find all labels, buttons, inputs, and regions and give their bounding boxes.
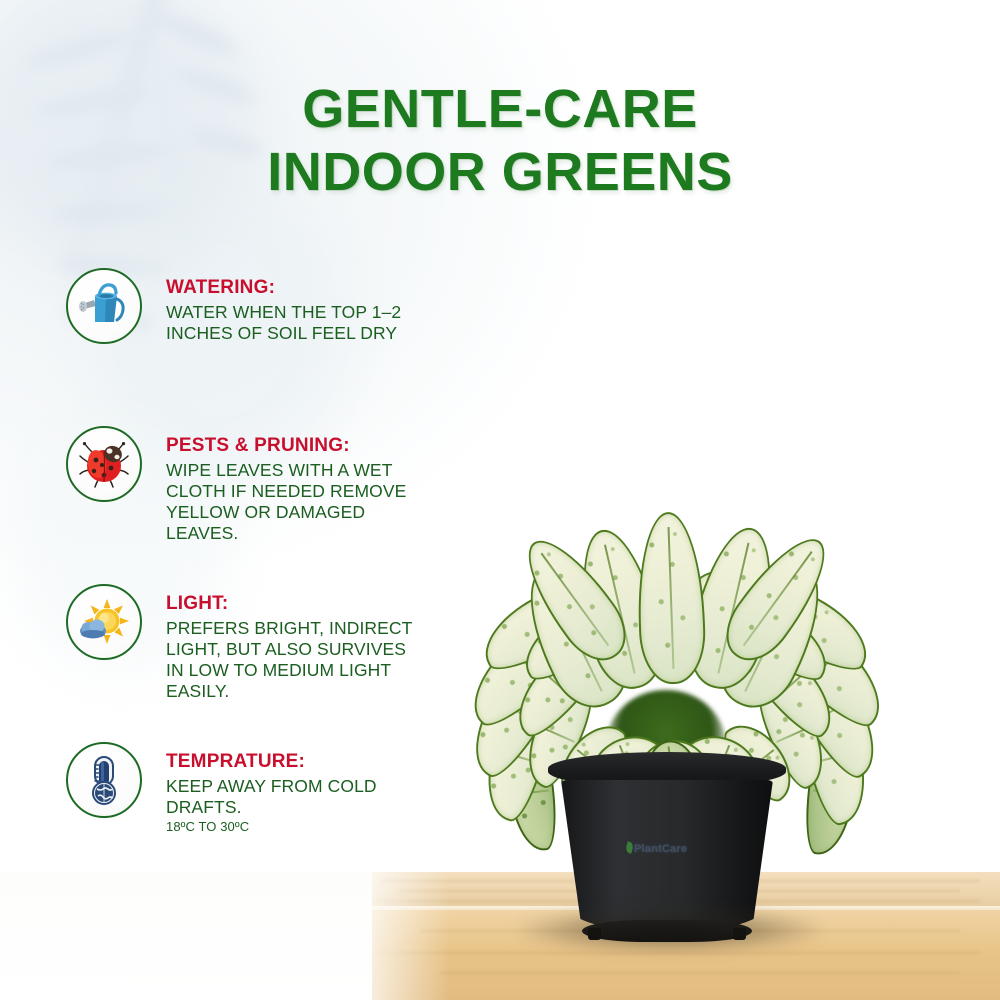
care-item-pests-pruning: PESTS & PRUNING: WIPE LEAVES WITH A WET … bbox=[62, 420, 422, 578]
thermometer-globe-icon bbox=[66, 742, 142, 818]
page-title: GENTLE-CARE INDOOR GREENS bbox=[0, 78, 1000, 203]
title-line-1: GENTLE-CARE bbox=[0, 78, 1000, 141]
product-image-plant: PlantCare bbox=[370, 300, 980, 940]
ladybug-icon bbox=[66, 426, 142, 502]
care-item-light: LIGHT: PREFERS BRIGHT, INDIRECT LIGHT, B… bbox=[62, 578, 422, 736]
plant-care-infographic: GENTLE-CARE INDOOR GREENS bbox=[0, 0, 1000, 1000]
pot-shadow bbox=[520, 908, 820, 952]
care-heading: WATERING: bbox=[166, 276, 422, 300]
pot-logo-text: PlantCare bbox=[634, 843, 687, 855]
care-item-watering: WATERING: WATER WHEN THE TOP 1–2 INCHES … bbox=[62, 262, 422, 420]
title-line-2: INDOOR GREENS bbox=[0, 141, 1000, 204]
care-instructions-list: WATERING: WATER WHEN THE TOP 1–2 INCHES … bbox=[62, 262, 422, 894]
care-item-temperature: TEMPRATURE: KEEP AWAY FROM COLD DRAFTS. … bbox=[62, 736, 422, 894]
pot-brand-logo: PlantCare bbox=[626, 842, 687, 855]
sun-cloud-icon bbox=[66, 584, 142, 660]
watering-can-icon bbox=[66, 268, 142, 344]
